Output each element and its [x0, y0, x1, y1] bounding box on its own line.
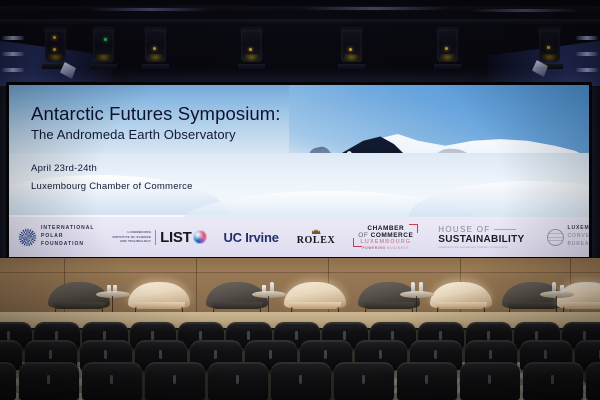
ipf-line-3: FOUNDATION — [41, 241, 94, 249]
water-glass — [113, 285, 117, 293]
water-bottle — [552, 282, 556, 293]
wall-slot-light — [2, 52, 24, 56]
rolex-wordmark: ROLEX — [297, 235, 336, 246]
stage-lounge-chair — [128, 282, 190, 314]
lcb-line-3: BUREAU — [568, 241, 589, 249]
coc-line-1: CHAMBER — [367, 225, 404, 232]
spotlight-led — [349, 48, 352, 51]
ceiling-light-strip — [470, 9, 580, 12]
spotlight-led — [53, 48, 56, 51]
lcb-wordmark: LUXEMBOURG CONVENTION BUREAU — [568, 225, 589, 248]
spotlight-lens — [344, 54, 359, 62]
coc-commerce: COMMERCE — [371, 232, 414, 239]
spotlight-led — [249, 48, 252, 51]
crown-icon — [312, 228, 321, 234]
spotlight-led — [104, 38, 107, 41]
audience-chair — [460, 362, 520, 400]
ceiling-light-strip — [90, 8, 210, 11]
sphere-rings-icon — [547, 229, 564, 246]
logo-international-polar-foundation: INTERNATIONAL POLAR FOUNDATION — [18, 225, 94, 248]
spotlight-led — [445, 47, 448, 50]
spotlight-led — [53, 36, 56, 39]
conference-hall-scene: Antarctic Futures Symposium: The Androme… — [0, 0, 600, 400]
sponsor-logo-bar: INTERNATIONAL POLAR FOUNDATION LUXEMBOUR… — [9, 217, 589, 257]
spotlight-lens — [440, 54, 455, 62]
logo-house-of-sustainability: HOUSE OF SUSTAINABILITY powered by the L… — [438, 225, 524, 249]
globe-sphere-icon — [18, 228, 37, 247]
spotlight-led — [547, 46, 550, 49]
coc-tagline: POWERING BUSINESS — [362, 246, 409, 250]
audience-chair — [0, 362, 16, 400]
audience-row-3 — [0, 362, 600, 400]
ipf-line-2: POLAR — [41, 233, 94, 241]
bracket-bottom-left — [353, 238, 362, 247]
spotlight-clamp — [142, 64, 169, 69]
wall-slot-light — [576, 36, 598, 40]
moving-head-spotlight — [142, 27, 169, 69]
spotlight-lens — [48, 54, 63, 62]
spotlight-clamp — [434, 64, 461, 69]
spotlight-lens — [148, 54, 163, 62]
hos-house-of: HOUSE OF — [438, 225, 490, 234]
ceiling-rig — [0, 0, 600, 86]
screen-details-block: April 23rd-24th Luxembourg Chamber of Co… — [31, 163, 193, 192]
snow-dune — [409, 181, 589, 217]
water-bottle — [411, 282, 415, 293]
uc-irvine-wordmark: UC Irvine — [223, 230, 278, 245]
audience-chair — [586, 362, 600, 400]
lcb-line-2: CONVENTION — [568, 233, 589, 241]
spotlight-lens — [244, 54, 259, 62]
wall-slot-light — [576, 68, 598, 72]
moving-head-spotlight — [238, 27, 265, 69]
audience-chair — [208, 362, 268, 400]
divider — [155, 230, 156, 245]
stage-lounge-chair — [284, 282, 346, 314]
spotlight-clamp — [90, 64, 117, 69]
spotlight-led — [153, 47, 156, 50]
spotlight-clamp — [238, 64, 265, 69]
water-glass — [560, 285, 564, 293]
lcb-line-1: LUXEMBOURG — [568, 225, 589, 233]
water-glass — [262, 285, 266, 293]
logo-luxembourg-convention-bureau: LUXEMBOURG CONVENTION BUREAU — [547, 225, 589, 248]
stage-lounge-chair — [430, 282, 492, 314]
moving-head-spotlight — [90, 27, 117, 69]
screen-surface: Antarctic Futures Symposium: The Androme… — [9, 85, 589, 257]
audience-chair — [334, 362, 394, 400]
coc-business: BUSINESS — [387, 246, 409, 250]
logo-chamber-of-commerce: CHAMBER OF COMMERCE LUXEMBOURG POWERING … — [353, 224, 418, 251]
wall-slot-light — [576, 52, 598, 56]
event-date: April 23rd-24th — [31, 163, 193, 174]
audience-chair — [271, 362, 331, 400]
ipf-line-1: INTERNATIONAL — [41, 225, 94, 233]
orb-icon — [193, 230, 207, 244]
coc-line-2: OF COMMERCE — [358, 232, 413, 239]
water-glass — [107, 285, 111, 293]
water-bottle — [419, 282, 423, 293]
bracket-top-right — [409, 224, 418, 233]
ceiling-light-strip — [300, 7, 450, 10]
hos-tagline: powered by the Luxembourg Chamber of Com… — [438, 246, 508, 249]
audience-chair — [19, 362, 79, 400]
audience-chair — [397, 362, 457, 400]
event-title: Antarctic Futures Symposium: — [31, 103, 361, 124]
screen-headline-block: Antarctic Futures Symposium: The Androme… — [31, 103, 361, 142]
moving-head-spotlight — [434, 27, 461, 69]
list-wordmark: LIST — [160, 229, 191, 246]
audience-chair — [523, 362, 583, 400]
hos-line-1: HOUSE OF — [438, 225, 516, 234]
ceiling-truss-lower — [0, 19, 600, 24]
logo-uc-irvine: UC Irvine — [223, 230, 278, 245]
coc-powering: POWERING — [362, 246, 385, 250]
logo-rolex: ROLEX — [297, 228, 336, 246]
wall-slot-light — [2, 68, 24, 72]
wall-horizontal-seam — [0, 272, 600, 273]
hos-line-2: SUSTAINABILITY — [438, 234, 524, 245]
coc-luxembourg: LUXEMBOURG — [360, 239, 411, 245]
list-descriptor-line-3: AND TECHNOLOGY — [112, 239, 151, 244]
led-backdrop-screen[interactable]: Antarctic Futures Symposium: The Androme… — [6, 82, 592, 260]
wall-slot-light — [2, 36, 24, 40]
audience-chair — [82, 362, 142, 400]
moving-head-spotlight — [338, 27, 365, 69]
spotlight-lens — [542, 54, 557, 62]
event-venue: Luxembourg Chamber of Commerce — [31, 181, 193, 192]
event-subtitle: The Andromeda Earth Observatory — [31, 127, 361, 142]
audience-chair — [145, 362, 205, 400]
list-descriptor: LUXEMBOURG INSTITUTE OF SCIENCE AND TECH… — [112, 230, 151, 244]
spotlight-lens — [96, 54, 111, 62]
ipf-wordmark: INTERNATIONAL POLAR FOUNDATION — [41, 225, 94, 248]
rule-line — [494, 229, 516, 230]
spotlight-clamp — [338, 64, 365, 69]
logo-list: LUXEMBOURG INSTITUTE OF SCIENCE AND TECH… — [112, 229, 207, 246]
water-bottle — [270, 282, 274, 293]
coc-chamber: CHAMBER — [367, 225, 404, 232]
